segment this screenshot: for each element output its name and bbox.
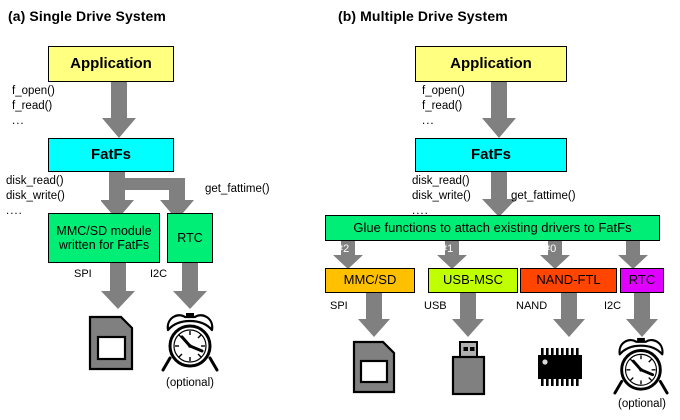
box-driver-rtc: RTC [620,268,664,293]
drive-number-2: #0 [544,243,556,255]
mmcsd-module-line2: written for FatFs [59,238,149,252]
arrow-app-to-fatfs-b [482,82,516,138]
call-disk-read-b: disk_read() [412,174,471,189]
box-driver-usbmsc: USB-MSC [428,268,518,293]
call-disk-write-a: disk_write() [6,189,65,204]
call-f-open-b: f_open() [422,84,465,99]
bus-usb-b: USB [424,300,447,312]
panel-b-title: (b) Multiple Drive System [338,8,508,24]
call-get-fattime-a: get_fattime() [205,182,270,197]
box-application-a: Application [48,46,174,82]
bus-spi-a: SPI [74,268,92,280]
calls-app-to-fatfs-a: f_open() f_read() ... [12,84,55,129]
call-disk-write-b: disk_write() [412,189,471,204]
arrow-rtc-to-clock-b [626,293,658,337]
mmcsd-module-line1: MMC/SD module [56,224,151,238]
panel-a-title: (a) Single Drive System [8,8,166,24]
alarm-clock-icon-b [612,335,670,395]
sd-card-icon-b [352,340,396,394]
call-get-fattime-b: get_fattime() [511,189,576,204]
bus-i2c-b: I2C [604,300,621,312]
sd-card-icon [88,315,134,371]
call-ellipsis-a: ... [12,114,55,129]
box-mmcsd-module-a: MMC/SD module written for FatFs [48,213,160,263]
box-driver-nandftl: NAND-FTL [520,268,617,293]
bus-nand-b: NAND [516,300,547,312]
arrow-app-to-fatfs-a [102,82,136,138]
usb-drive-icon [448,340,488,396]
arrow-usbmsc-to-drive-b [452,293,484,337]
box-driver-mmcsd: MMC/SD [325,268,415,293]
arrow-mmcsd-to-card-b [358,293,390,337]
arrow-nandftl-to-chip-b [553,293,585,337]
diagram-canvas: (a) Single Drive System Application f_op… [0,0,680,420]
calls-disk-b: disk_read() disk_write() .... [412,174,471,219]
call-f-read-a: f_read() [12,99,55,114]
optional-label-b: (optional) [604,398,680,410]
call-f-open-a: f_open() [12,84,55,99]
call-ellipsis-b: ... [422,114,465,129]
call-disk-read-a: disk_read() [6,174,65,189]
box-fatfs-b: FatFs [415,138,567,172]
optional-label-a: (optional) [152,377,228,389]
calls-app-to-fatfs-b: f_open() f_read() ... [422,84,465,129]
bus-spi-b: SPI [330,300,348,312]
box-glue-functions: Glue functions to attach existing driver… [325,215,660,241]
arrow-rtc-to-clock-a [173,263,207,309]
drive-number-0: #2 [337,243,349,255]
box-rtc-a: RTC [167,213,213,263]
call-f-read-b: f_read() [422,99,465,114]
nand-chip-icon [535,348,587,386]
box-application-b: Application [415,46,567,82]
arrow-glue-to-rtc [618,241,648,269]
alarm-clock-icon [160,310,220,372]
bus-i2c-a: I2C [150,268,167,280]
box-fatfs-a: FatFs [48,138,174,172]
arrow-mmcsd-to-card-a [101,263,135,309]
drive-number-1: #1 [441,243,453,255]
